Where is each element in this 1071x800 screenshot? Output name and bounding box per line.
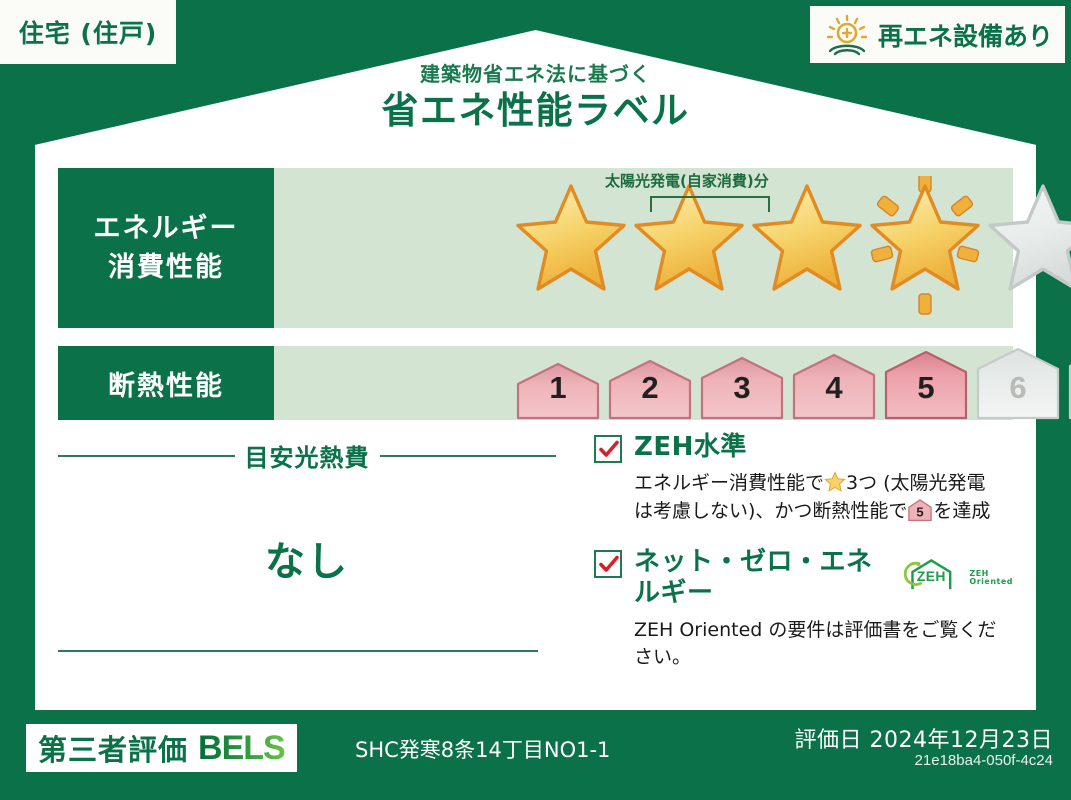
- title-main: 省エネ性能ラベル: [0, 88, 1071, 134]
- sun-plug-icon: [824, 14, 870, 56]
- inline-grade-badge: 5: [907, 499, 933, 522]
- evaluation-date: 評価日 2024年12月23日: [795, 722, 1053, 754]
- zeh-oriented-logo-icon: ZEH: [901, 558, 962, 598]
- zeh-oriented-logo-caption: ZEH Oriented: [969, 570, 1013, 587]
- heading-rule-right: [380, 455, 557, 457]
- inline-star-icon: [824, 471, 846, 493]
- energy-star-track: [274, 168, 1013, 328]
- lower-section: 目安光熱費 なし ZEH水準 エネルギー消費性能で3つ (太陽光発電 は考慮: [58, 432, 1013, 682]
- utility-cost-bottom-rule: [58, 650, 538, 652]
- energy-label-line1: エネルギー: [94, 209, 239, 248]
- star-4: [866, 176, 984, 318]
- bels-en-label: BELS: [198, 729, 285, 768]
- utility-cost-heading: 目安光熱費: [58, 438, 556, 473]
- grade-number: 6: [974, 370, 1062, 406]
- zeh-standard-checkbox[interactable]: [594, 435, 622, 463]
- energy-performance-label: エネルギー 消費性能: [58, 168, 274, 328]
- svg-text:5: 5: [917, 505, 924, 520]
- insulation-grade-2: 2: [606, 340, 694, 420]
- insulation-grade-4: 4: [790, 340, 878, 420]
- grade-number: 5: [882, 370, 970, 406]
- insulation-grade-6: 6: [974, 340, 1062, 420]
- grade-number: 2: [606, 370, 694, 406]
- check-icon: [598, 553, 620, 575]
- solar-annotation-bracket: [650, 196, 770, 212]
- solar-annotation-label: 太陽光発電(自家消費)分: [605, 170, 769, 191]
- svg-text:ZEH: ZEH: [917, 568, 946, 584]
- net-zero-energy-description: ZEH Oriented の要件は評価書をご覧ください。: [634, 617, 1013, 672]
- insulation-grade-list: 1 2: [514, 340, 1071, 420]
- grade-number: 7: [1066, 370, 1071, 406]
- evaluation-id: 21e18ba4-050f-4c24: [915, 752, 1053, 769]
- renewable-equipment-label: 再エネ設備あり: [878, 17, 1053, 53]
- net-zero-energy-title: ネット・ゼロ・エネルギー ZEH ZEH Oriented: [634, 547, 1013, 609]
- net-zero-energy-title-text: ネット・ゼロ・エネルギー: [634, 547, 895, 609]
- zeh-desc-part2: は考慮しない)、かつ断熱性能で: [634, 500, 907, 522]
- star-5: [984, 176, 1071, 318]
- net-zero-energy-checkbox[interactable]: [594, 550, 622, 578]
- energy-performance-row: エネルギー 消費性能: [58, 168, 1013, 328]
- insulation-grade-1: 1: [514, 340, 602, 420]
- utility-cost-panel: 目安光熱費 なし: [58, 432, 556, 682]
- bels-badge: 第三者評価 BELS: [26, 724, 297, 772]
- utility-cost-value: なし: [58, 529, 556, 587]
- insulation-performance-row: 断熱性能 1: [58, 346, 1013, 420]
- footer-bar: 第三者評価 BELS SHC発寒8条14丁目NO1-1 評価日 2024年12月…: [0, 710, 1071, 800]
- grade-number: 1: [514, 370, 602, 406]
- zeh-standard-title: ZEH水準: [634, 432, 1013, 463]
- insulation-label-text: 断熱性能: [108, 364, 224, 403]
- check-icon: [598, 438, 620, 460]
- dwelling-type-label: 住宅 (住戸): [19, 14, 158, 50]
- star-1: [512, 176, 630, 318]
- star-rating: [512, 176, 1071, 318]
- heading-rule-left: [58, 455, 235, 457]
- net-zero-energy-item: ネット・ゼロ・エネルギー ZEH ZEH Oriented: [594, 547, 1013, 671]
- insulation-grade-7: 7: [1066, 340, 1071, 420]
- label-canvas: 住宅 (住戸) 再エネ設備あり 建: [0, 0, 1071, 800]
- property-code: SHC発寒8条14丁目NO1-1: [355, 734, 610, 764]
- renewable-equipment-tag: 再エネ設備あり: [810, 6, 1065, 63]
- energy-label-line2: 消費性能: [108, 248, 224, 287]
- zeh-logo-line2: Oriented: [969, 577, 1013, 586]
- grade-number: 4: [790, 370, 878, 406]
- zeh-standard-description: エネルギー消費性能で3つ (太陽光発電 は考慮しない)、かつ断熱性能で5を達成: [634, 470, 1013, 525]
- insulation-grade-5: 5: [882, 340, 970, 420]
- zeh-desc-part3: を達成: [933, 500, 990, 522]
- zeh-desc-part1: エネルギー消費性能で: [634, 472, 824, 494]
- zeh-standard-item: ZEH水準 エネルギー消費性能で3つ (太陽光発電 は考慮しない)、かつ断熱性能…: [594, 432, 1013, 525]
- utility-cost-heading-text: 目安光熱費: [245, 438, 370, 473]
- grade-number: 3: [698, 370, 786, 406]
- zeh-panel: ZEH水準 エネルギー消費性能で3つ (太陽光発電 は考慮しない)、かつ断熱性能…: [556, 432, 1013, 682]
- title-subtitle: 建築物省エネ法に基づく: [0, 62, 1071, 86]
- bels-jp-label: 第三者評価: [38, 727, 188, 769]
- insulation-grade-track: 1 2: [274, 346, 1013, 420]
- page-title: 建築物省エネ法に基づく 省エネ性能ラベル: [0, 62, 1071, 134]
- dwelling-type-tag: 住宅 (住戸): [0, 0, 176, 64]
- insulation-performance-label: 断熱性能: [58, 346, 274, 420]
- zeh-desc-star-count: 3つ (太陽光発電: [846, 472, 986, 494]
- insulation-grade-3: 3: [698, 340, 786, 420]
